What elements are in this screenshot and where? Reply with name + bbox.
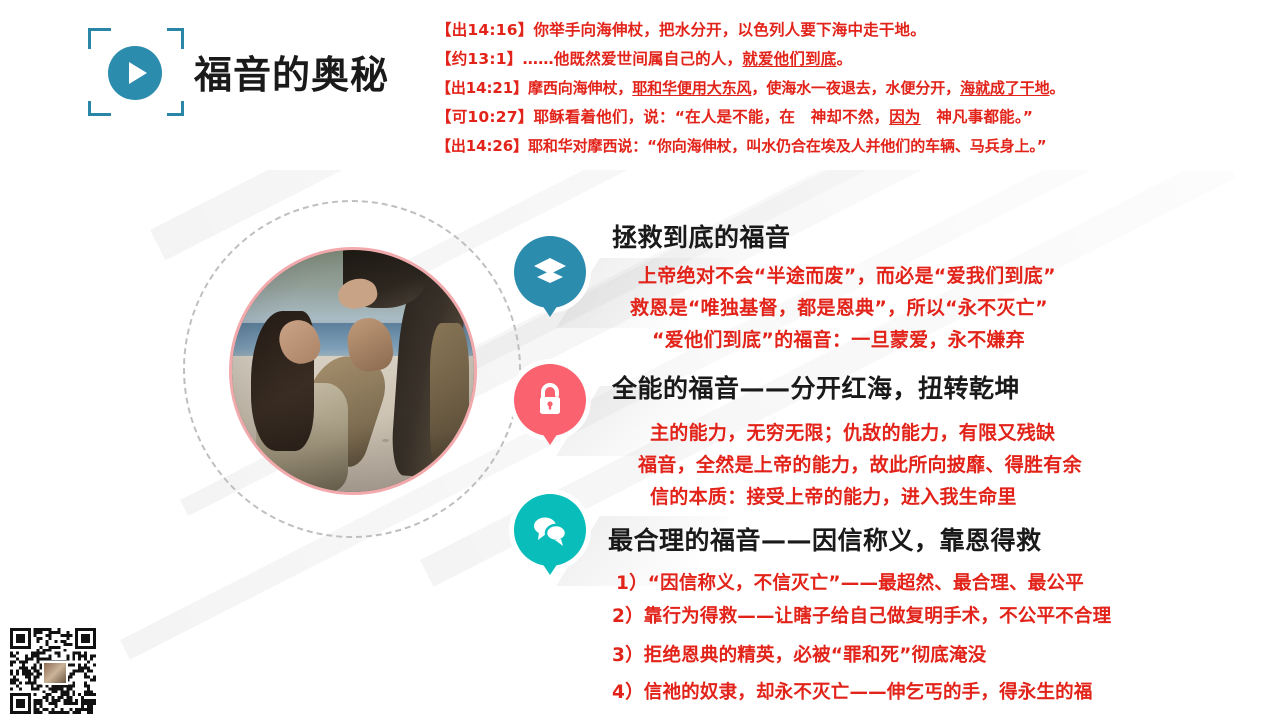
speech-bubbles-icon[interactable]	[514, 494, 586, 566]
section-3-item: 1）“因信称义，不信灭亡”——最超然、最合理、最公平	[616, 569, 1084, 595]
section-2-line: 福音，全然是上帝的能力，故此所向披靡、得胜有余	[638, 450, 1082, 477]
scripture-line: 【出14:26】耶和华对摩西说：“你向海伸杖，叫水仍合在埃及人并他们的车辆、马兵…	[436, 132, 1276, 161]
section-2-line: 主的能力，无穷无限；仇敌的能力，有限又残缺	[650, 418, 1055, 445]
slide-canvas: 福音的奥秘 【出14:16】你举手向海伸杖，把水分开，以色列人要下海中走干地。 …	[0, 0, 1280, 720]
scripture-line: 【出14:16】你举手向海伸杖，把水分开，以色列人要下海中走干地。	[436, 16, 1276, 45]
section-3-item: 4）信祂的奴隶，却永不灭亡——伸乞丐的手，得永生的福	[612, 678, 1093, 704]
section-heading-2: 全能的福音——分开红海，扭转乾坤	[612, 369, 1020, 405]
section-2-line: 信的本质：接受上帝的能力，进入我生命里	[650, 482, 1017, 509]
page-title: 福音的奥秘	[194, 44, 389, 99]
section-heading-1: 拯救到底的福音	[612, 218, 791, 254]
scripture-block: 【出14:16】你举手向海伸杖，把水分开，以色列人要下海中走干地。 【约13:1…	[436, 16, 1276, 161]
photo-image	[232, 250, 474, 492]
layers-icon[interactable]	[514, 236, 586, 308]
section-3-item: 2）靠行为得救——让瞎子给自己做复明手术，不公平不合理	[612, 602, 1111, 628]
qr-center-logo	[42, 661, 68, 685]
section-heading-3: 最合理的福音——因信称义，靠恩得救	[608, 521, 1042, 557]
scripture-line: 【约13:1】……他既然爱世间属自己的人，就爱他们到底。	[436, 45, 1276, 74]
section-3-item: 3）拒绝恩典的精英，必被“罪和死”彻底淹没	[612, 641, 986, 667]
section-1-line: 救恩是“唯独基督，都是恩典”，所以“永不灭亡”	[630, 293, 1048, 320]
photo-circle	[229, 247, 477, 495]
section-1-line: “爱他们到底”的福音：一旦蒙爱，永不嫌弃	[652, 325, 1025, 352]
section-1-line: 上帝绝对不会“半途而废”，而必是“爱我们到底”	[638, 261, 1056, 288]
padlock-icon[interactable]	[514, 364, 586, 436]
qr-code[interactable]	[10, 628, 96, 714]
logo	[88, 28, 188, 120]
play-circle-icon	[108, 46, 162, 100]
scripture-line: 【出14:21】摩西向海伸杖，耶和华便用大东风，使海水一夜退去，水便分开，海就成…	[436, 74, 1276, 103]
scripture-line: 【可10:27】耶稣看着他们，说：“在人是不能，在 神却不然，因为 神凡事都能。…	[436, 103, 1276, 132]
